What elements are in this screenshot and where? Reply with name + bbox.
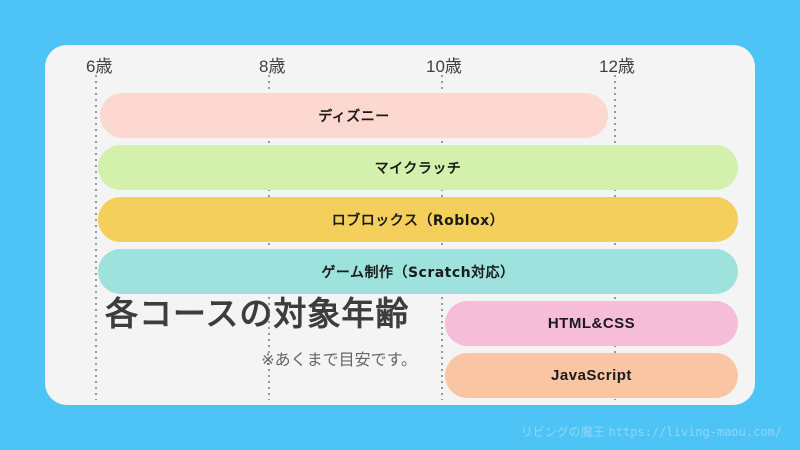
course-bar-label: ディズニー (318, 106, 390, 126)
course-bar-label: ゲーム制作（Scratch対応） (321, 262, 514, 282)
age-tick-label-8: 8歳 (259, 52, 285, 77)
course-bar-label: マイクラッチ (375, 158, 462, 178)
age-tick-label-12: 12歳 (599, 52, 635, 77)
course-bar-javascript: JavaScript (445, 353, 738, 398)
chart-title: 各コースの対象年齢 (105, 296, 425, 332)
course-bar-label: HTML&CSS (548, 315, 635, 332)
age-tick-label-10: 10歳 (426, 52, 462, 77)
chart-subtitle-note: ※あくまで目安です。 (105, 346, 425, 370)
headline-block: 各コースの対象年齢 ※あくまで目安です。 (105, 296, 425, 370)
course-bar-game-scratch: ゲーム制作（Scratch対応） (98, 249, 738, 294)
course-bar-label: JavaScript (551, 367, 632, 384)
gridline-age-6 (95, 75, 97, 400)
course-bar-label: ロブロックス（Roblox） (332, 210, 504, 230)
course-bar-html-css: HTML&CSS (445, 301, 738, 346)
age-tick-label-6: 6歳 (86, 52, 112, 77)
watermark-site-name: リビングの魔王 (521, 425, 605, 439)
watermark-url: https://living-maou.com/ (609, 425, 782, 439)
infographic-canvas: 6歳 8歳 10歳 12歳 ディズニー マイクラッチ ロブロックス（Roblox… (0, 0, 800, 450)
course-bar-mikuratchi: マイクラッチ (98, 145, 738, 190)
course-bar-roblox: ロブロックス（Roblox） (98, 197, 738, 242)
course-bar-disney: ディズニー (100, 93, 608, 138)
footer-watermark: リビングの魔王 https://living-maou.com/ (521, 423, 782, 440)
